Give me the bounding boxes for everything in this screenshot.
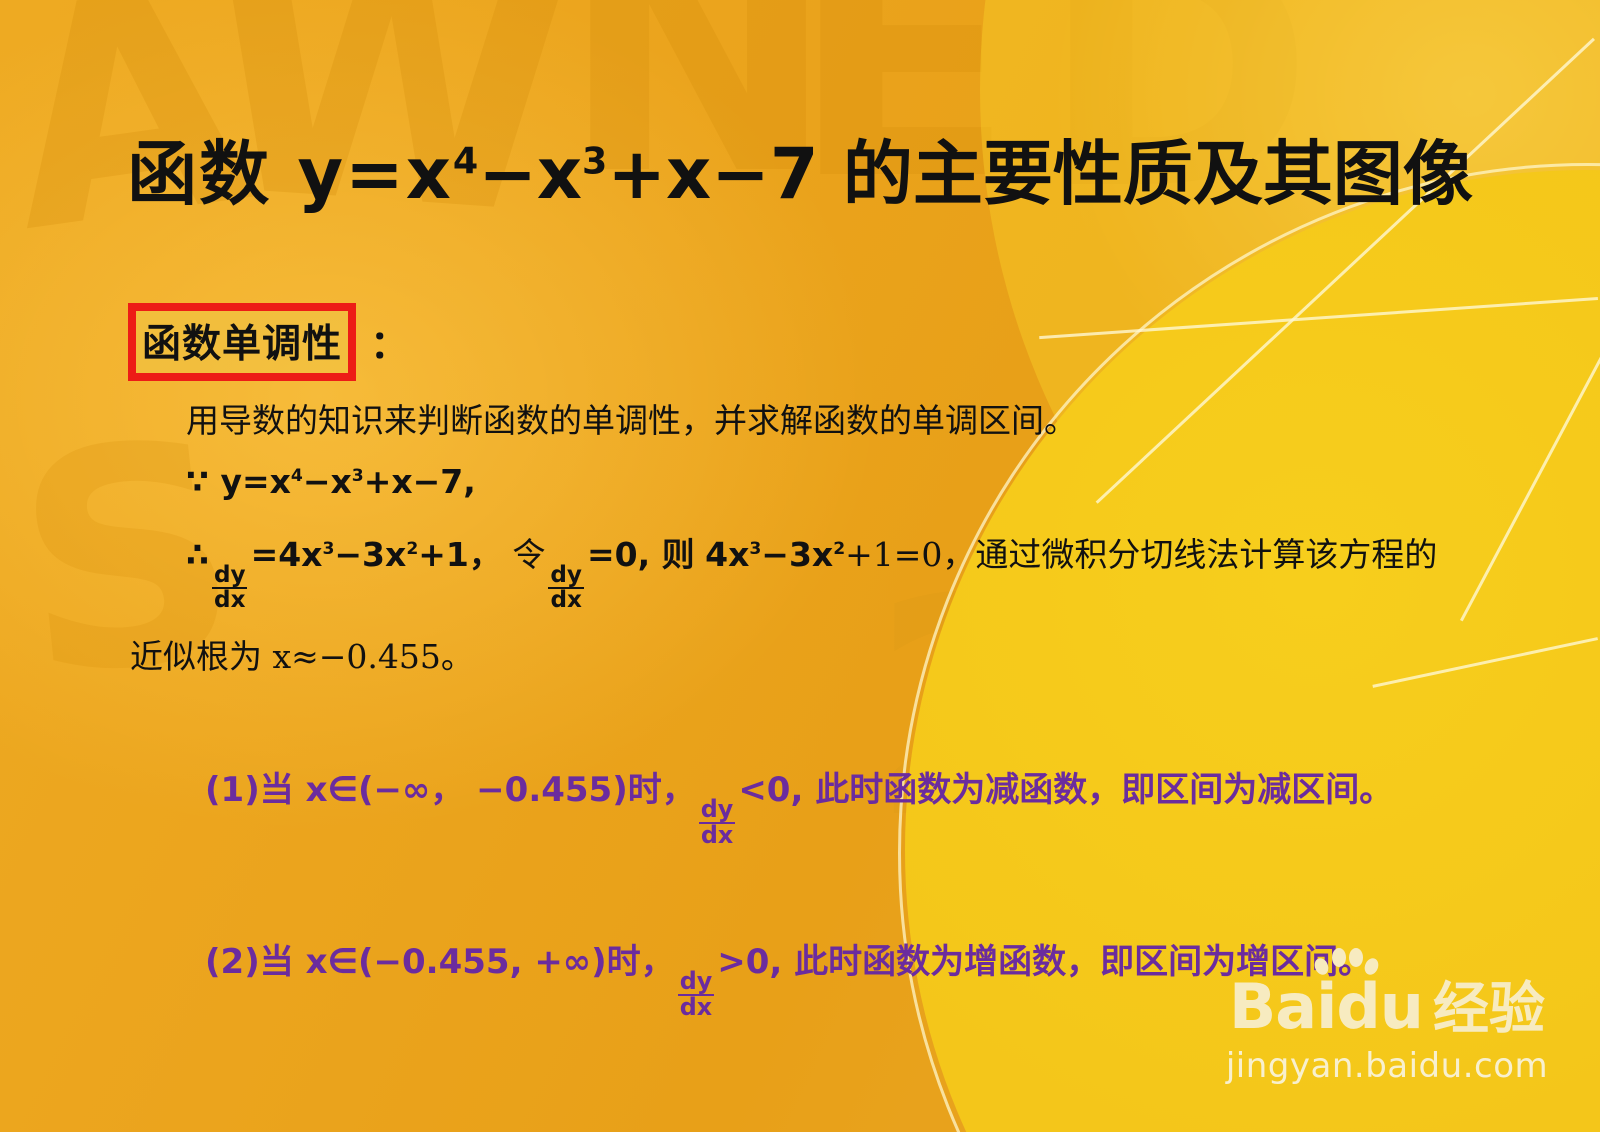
line2-mid: −x <box>303 462 352 501</box>
fraction-numerator: dy <box>212 564 248 587</box>
conclusion-index: (1) <box>205 770 260 810</box>
fraction-dy-dx-1: dydx <box>212 564 248 612</box>
fraction-numerator: dy <box>548 564 584 587</box>
fraction-denominator: dx <box>212 587 247 612</box>
section-header-redbox: 函数单调性 <box>128 303 356 381</box>
fraction-numerator: dy <box>699 798 736 822</box>
body-line-3: ∴dydx=4x3−3x2+1， 令dydx=0, 则 4x3−3x2+1=0，… <box>130 532 1470 612</box>
slide-canvas: A W N E D S 2 3 函数 y=x4−x3+x−7 的主要性质及其图像… <box>0 0 1600 1132</box>
line3-f: =0, 则 <box>587 535 695 574</box>
body-text: 用导数的知识来判断函数的单调性，并求解函数的单调区间。 ∵ y=x4−x3+x−… <box>130 398 1470 685</box>
conclusion-suffix: 此时函数为增函数，即区间为增区间。 <box>794 942 1372 982</box>
watermark-url: jingyan.baidu.com <box>1192 1046 1582 1086</box>
line3-b: =4x <box>251 535 323 574</box>
conclusion-relation: >0, <box>717 942 782 982</box>
line3-d: +1， <box>418 535 502 574</box>
title-tail: +x−7 的主要性质及其图像 <box>607 133 1473 215</box>
conclusion-relation: <0, <box>738 770 803 810</box>
section-header-label: 函数单调性 <box>142 322 342 367</box>
line3-exponent-2b: 2 <box>833 539 845 559</box>
fraction-denominator: dx <box>548 587 583 612</box>
line3-c: −3x <box>334 535 406 574</box>
title-prefix: 函数 y=x <box>127 133 453 215</box>
fraction-dy-dx-2: dydx <box>548 564 584 612</box>
fraction-dy-dx-3: dydx <box>699 798 736 848</box>
body-line-4: 近似根为 x≈−0.455。 <box>130 634 1470 681</box>
title-mid: −x <box>478 133 582 215</box>
line2-exponent-4: 4 <box>291 466 303 486</box>
slide-content: 函数 y=x4−x3+x−7 的主要性质及其图像 函数单调性 ： 用导数的知识来… <box>0 0 1600 1132</box>
conclusion-prefix: 当 x∈(−∞， −0.455)时， <box>260 770 696 810</box>
conclusion-prefix: 当 x∈(−0.455, +∞)时， <box>260 942 675 982</box>
conclusion-index: (2) <box>205 942 260 982</box>
conclusion-list: (1)当 x∈(−∞， −0.455)时，dydx<0, 此时函数为减函数，即区… <box>205 762 1505 1020</box>
body-line-2: ∵ y=x4−x3+x−7, <box>130 459 1470 506</box>
line3-exponent-2: 2 <box>406 539 418 559</box>
body-line-1: 用导数的知识来判断函数的单调性，并求解函数的单调区间。 <box>130 398 1470 445</box>
title-exponent-3: 3 <box>582 140 607 183</box>
section-header: 函数单调性 ： <box>128 303 409 381</box>
line3-i: +1=0，通过微积分切线法计算该方程的 <box>845 535 1437 574</box>
line3-ling: 令 <box>512 535 545 574</box>
conclusion-item-1: (1)当 x∈(−∞， −0.455)时，dydx<0, 此时函数为减函数，即区… <box>205 762 1505 848</box>
fraction-denominator: dx <box>699 822 735 848</box>
line2-exponent-3: 3 <box>352 466 364 486</box>
section-header-colon: ： <box>370 314 409 370</box>
fraction-dy-dx-4: dydx <box>678 970 715 1020</box>
page-title: 函数 y=x4−x3+x−7 的主要性质及其图像 <box>0 118 1600 219</box>
line3-exponent-3b: 3 <box>749 539 761 559</box>
conclusion-item-2: (2)当 x∈(−0.455, +∞)时，dydx>0, 此时函数为增函数，即区… <box>205 934 1505 1020</box>
title-exponent-4: 4 <box>453 140 478 183</box>
fraction-denominator: dx <box>678 994 714 1020</box>
line3-g: 4x <box>705 535 749 574</box>
line2-prefix: ∵ y=x <box>186 462 291 501</box>
line3-exponent-3: 3 <box>322 539 334 559</box>
line2-tail: +x−7, <box>364 462 476 501</box>
line3-h: −3x <box>761 535 833 574</box>
therefore-symbol: ∴ <box>186 535 209 574</box>
conclusion-suffix: 此时函数为减函数，即区间为减区间。 <box>815 770 1393 810</box>
fraction-numerator: dy <box>678 970 715 994</box>
